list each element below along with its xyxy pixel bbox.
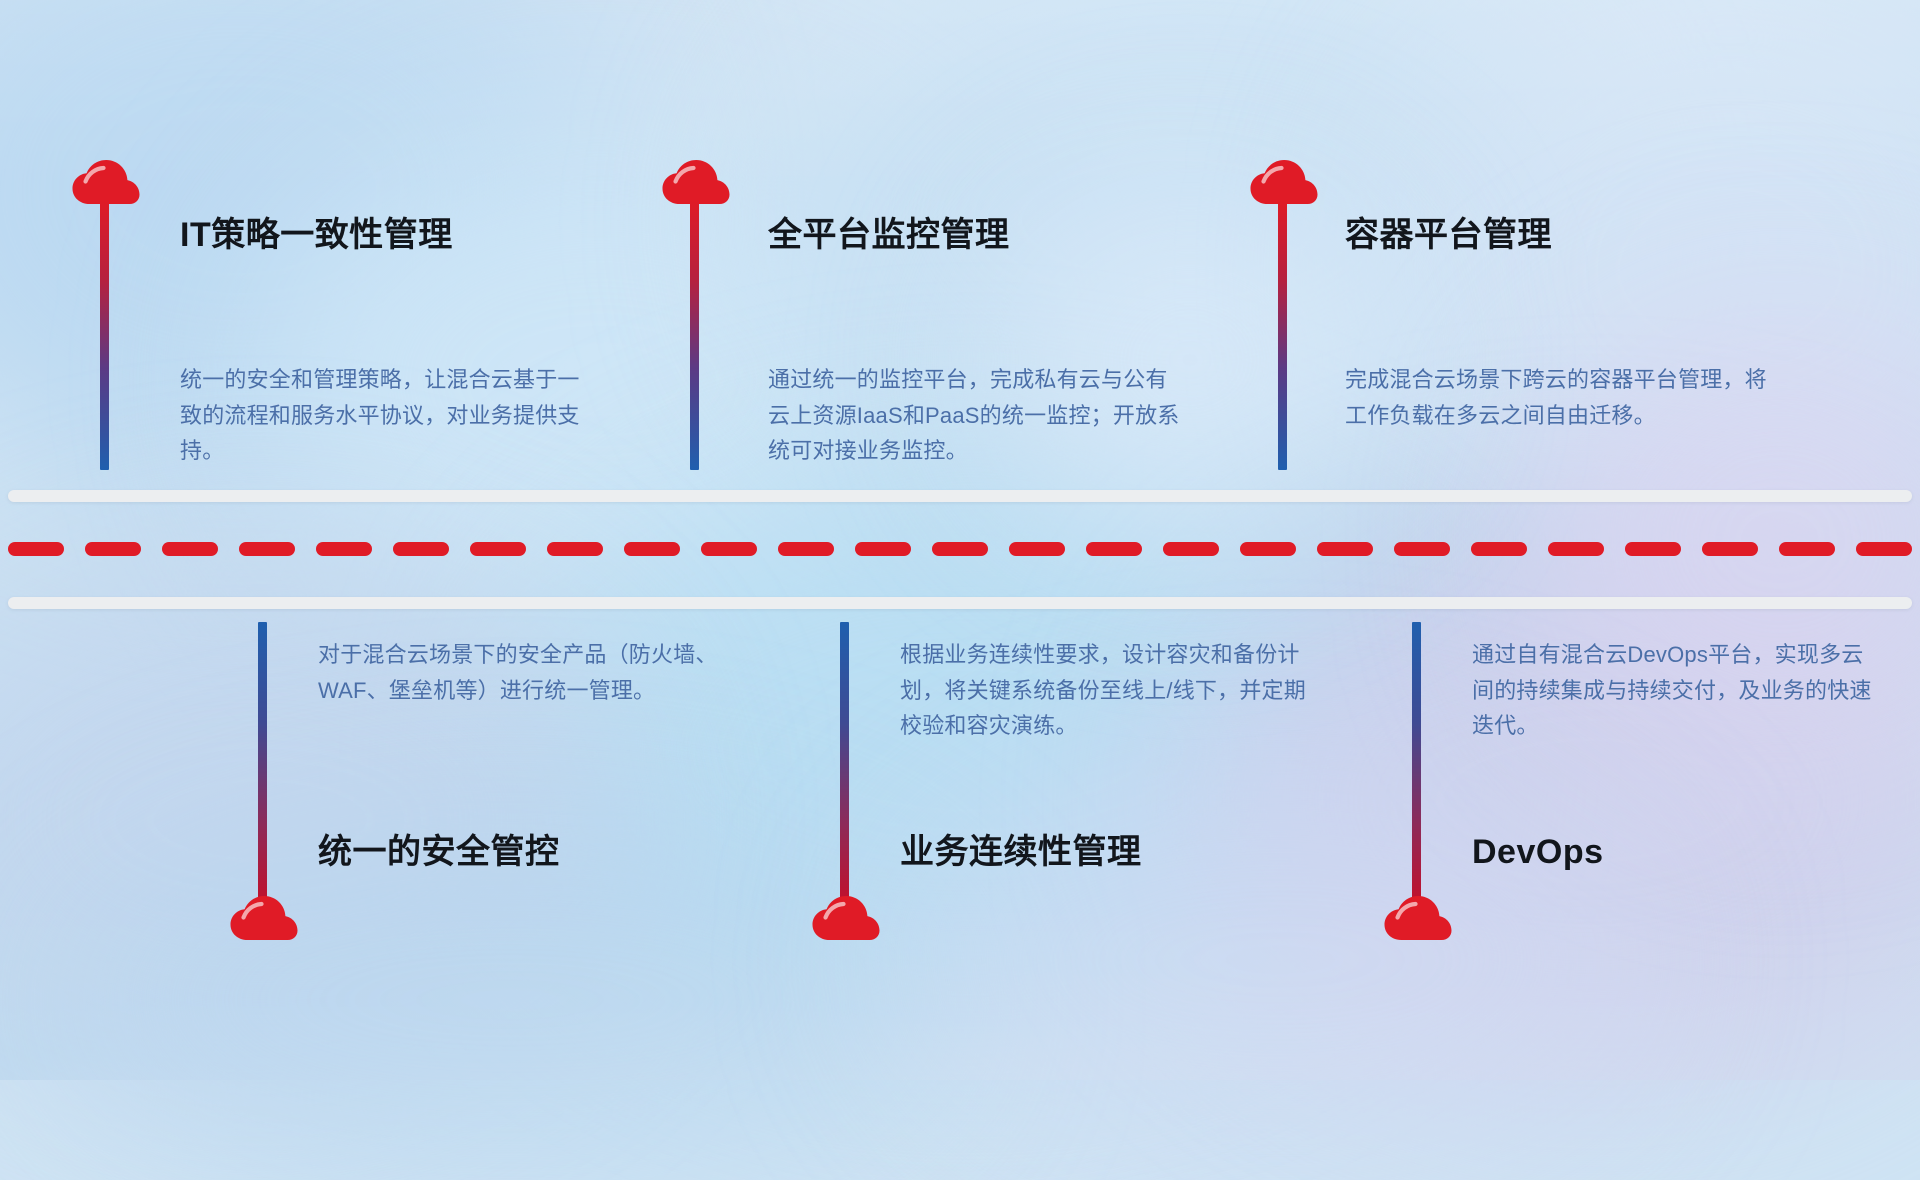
- road-dash: [470, 542, 526, 556]
- road-dash: [162, 542, 218, 556]
- bottom-item-title-2: 业务连续性管理: [900, 832, 1142, 873]
- bottom-item-body-3: 通过自有混合云DevOps平台，实现多云间的持续集成与持续交付，及业务的快速迭代…: [1472, 637, 1872, 744]
- road-dash: [778, 542, 834, 556]
- road-dash: [8, 542, 64, 556]
- road-edge-line-bottom: [8, 597, 1912, 609]
- road-dash: [1086, 542, 1142, 556]
- road-dash: [1471, 542, 1527, 556]
- top-item-title-1: IT策略一致性管理: [180, 215, 453, 256]
- pin-stem: [258, 622, 267, 904]
- road-dash: [85, 542, 141, 556]
- road-dash: [1240, 542, 1296, 556]
- road-dash: [1702, 542, 1758, 556]
- road-dash: [393, 542, 449, 556]
- road-dash: [1317, 542, 1373, 556]
- bottom-item-title-1: 统一的安全管控: [318, 832, 560, 873]
- road-dash: [1779, 542, 1835, 556]
- pin-stem: [100, 200, 109, 470]
- road-dash: [1009, 542, 1065, 556]
- bottom-item-body-1: 对于混合云场景下的安全产品（防火墙、WAF、堡垒机等）进行统一管理。: [318, 637, 738, 708]
- top-item-title-2: 全平台监控管理: [768, 215, 1010, 256]
- road-dash: [1163, 542, 1219, 556]
- road-dash: [547, 542, 603, 556]
- road-edge-line-top: [8, 490, 1912, 502]
- top-item-body-3: 完成混合云场景下跨云的容器平台管理，将工作负载在多云之间自由迁移。: [1345, 362, 1775, 433]
- bottom-item-title-3: DevOps: [1472, 832, 1604, 873]
- pin-stem: [690, 200, 699, 470]
- cloud-pin-icon: [230, 896, 298, 942]
- bottom-item-body-2: 根据业务连续性要求，设计容灾和备份计划，将关键系统备份至线上/线下，并定期校验和…: [900, 637, 1320, 744]
- top-item-body-1: 统一的安全和管理策略，让混合云基于一致的流程和服务水平协议，对业务提供支持。: [180, 362, 600, 469]
- road-dash: [855, 542, 911, 556]
- road-center-dashes: [8, 542, 1912, 556]
- top-item-body-2: 通过统一的监控平台，完成私有云与公有云上资源IaaS和PaaS的统一监控；开放系…: [768, 362, 1188, 469]
- cloud-pin-icon: [812, 896, 880, 942]
- road-dash: [239, 542, 295, 556]
- road-dash: [316, 542, 372, 556]
- road-dash: [1856, 542, 1912, 556]
- pin-stem: [1278, 200, 1287, 470]
- cloud-pin-icon: [1384, 896, 1452, 942]
- road-dash: [1394, 542, 1450, 556]
- pin-stem: [840, 622, 849, 904]
- top-item-title-3: 容器平台管理: [1345, 215, 1552, 256]
- road-dash: [1625, 542, 1681, 556]
- road-dash: [1548, 542, 1604, 556]
- road-dash: [701, 542, 757, 556]
- pin-stem: [1412, 622, 1421, 904]
- road-dash: [624, 542, 680, 556]
- road-dash: [932, 542, 988, 556]
